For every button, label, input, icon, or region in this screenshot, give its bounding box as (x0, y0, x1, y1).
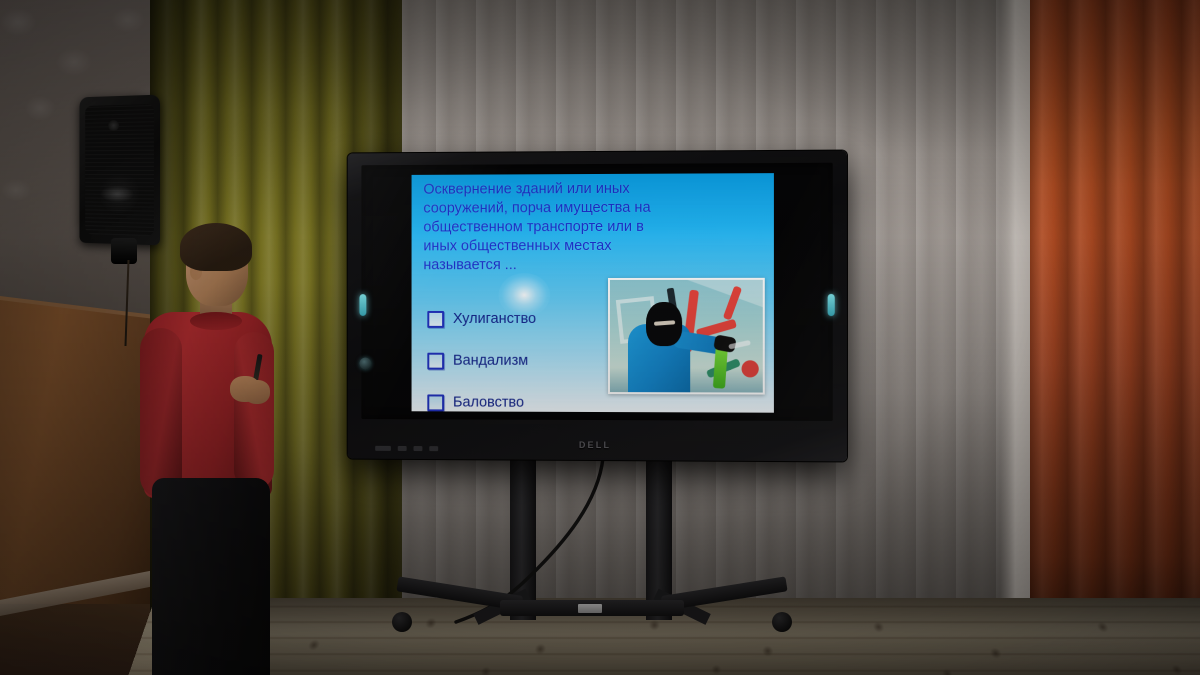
answer-option-label: Хулиганство (453, 311, 536, 327)
screenshot-scene: Осквернение зданий или иных сооружений, … (0, 0, 1200, 675)
question-line: называется ... (423, 256, 704, 275)
ir-remote-sensor (359, 358, 371, 370)
display-screen[interactable]: Осквернение зданий или иных сооружений, … (412, 173, 774, 413)
speaker-cabinet (79, 95, 160, 246)
photo-graffiti-red-dot (742, 360, 759, 377)
black-trousers (152, 478, 270, 675)
status-led-left (359, 294, 366, 316)
slide-question-text: Осквернение зданий или иных сооружений, … (423, 179, 704, 275)
question-line: Осквернение зданий или иных (423, 179, 704, 199)
checkbox-icon[interactable] (427, 310, 444, 327)
checkbox-icon[interactable] (427, 394, 444, 411)
answer-option-1[interactable]: Хулиганство (427, 298, 596, 340)
sweater-collar (190, 312, 242, 330)
question-line: общественном транспорте или в (423, 218, 704, 238)
question-line: иных общественных местах (423, 237, 704, 257)
stand-caster-right (772, 612, 792, 632)
hand-right (244, 380, 270, 404)
speaker-logo (101, 186, 134, 202)
interactive-flat-panel-display[interactable]: Осквернение зданий или иных сооружений, … (348, 151, 847, 462)
graffiti-vandalism-photo (608, 278, 765, 395)
question-line: сооружений, порча имущества на (423, 199, 704, 219)
answer-options-list: Хулиганство Вандализм Баловство (427, 298, 596, 413)
answer-option-label: Вандализм (453, 353, 528, 369)
orange-velvet-curtain (1030, 0, 1200, 634)
status-led-right (828, 294, 835, 316)
answer-option-2[interactable]: Вандализм (427, 340, 596, 382)
checkbox-icon[interactable] (427, 352, 444, 369)
student-presenter (138, 228, 286, 675)
hair (180, 223, 252, 271)
speaker-wall-bracket (111, 238, 137, 264)
stand-caster-left (392, 612, 412, 632)
speaker-grille (85, 104, 154, 236)
rating-label (578, 604, 602, 613)
sweater-sleeve-right (140, 328, 182, 498)
sweater-sleeve-left (234, 332, 274, 490)
answer-option-3[interactable]: Баловство (427, 382, 596, 413)
answer-option-label: Баловство (453, 395, 524, 411)
